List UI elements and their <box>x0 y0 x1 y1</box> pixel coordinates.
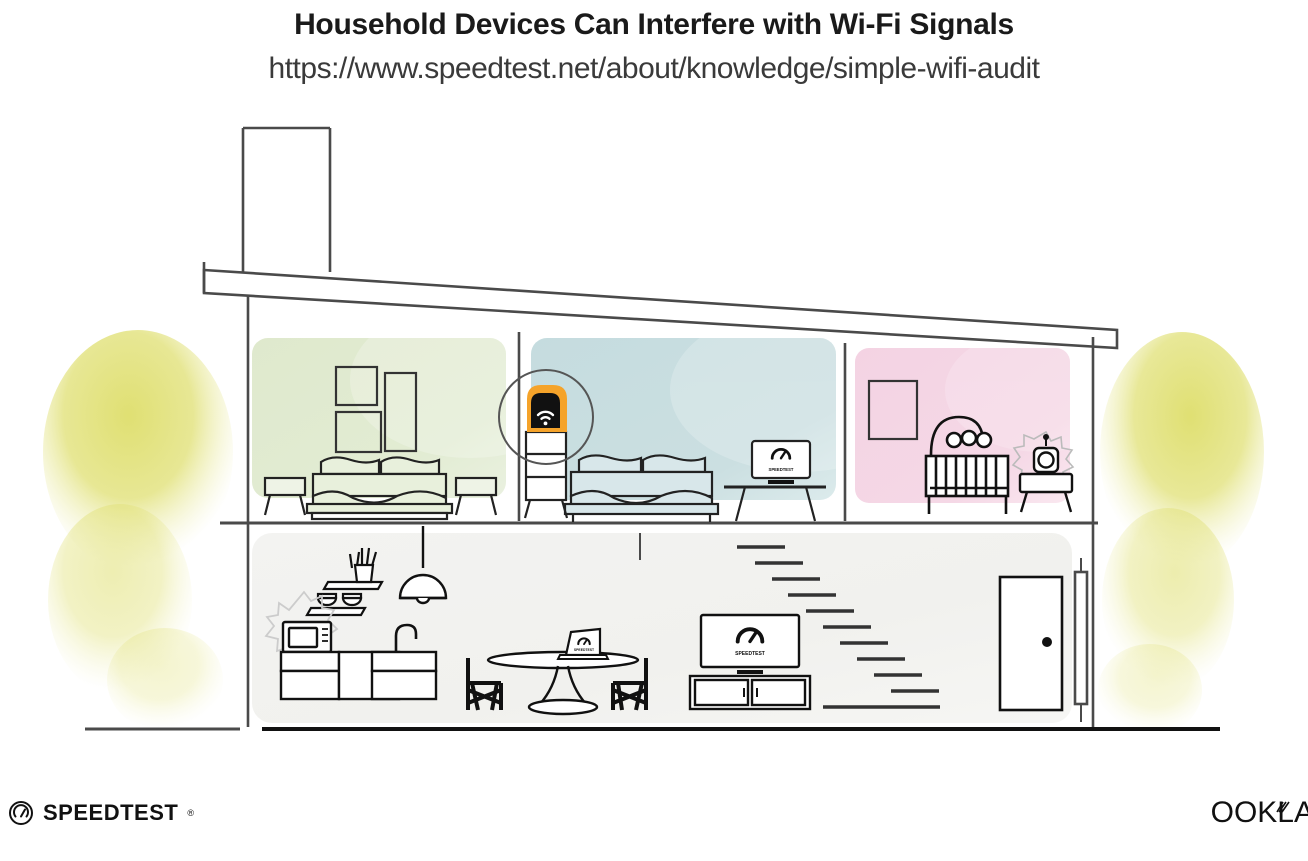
kitchen-cabinets <box>281 652 436 699</box>
entry-door <box>1000 577 1062 710</box>
speedtest-gauge-icon <box>8 800 34 826</box>
infographic-page: Household Devices Can Interfere with Wi-… <box>0 0 1308 861</box>
media-console <box>690 676 810 709</box>
crib <box>926 456 1008 514</box>
television: SPEEDTEST <box>701 615 799 674</box>
ookla-mark-icon <box>1274 798 1290 828</box>
ookla-logo: OOKLA <box>1211 796 1308 830</box>
door-knob <box>1042 637 1052 647</box>
chimney <box>243 128 330 272</box>
bed-guest <box>307 457 452 519</box>
desktop-monitor: SPEEDTEST <box>752 441 810 484</box>
speedtest-trademark: ® <box>187 808 194 818</box>
microwave <box>283 622 331 652</box>
roof-slab <box>204 270 1117 348</box>
monitor-screen-label: SPEEDTEST <box>769 467 794 472</box>
tv-screen-label: SPEEDTEST <box>735 651 765 657</box>
speedtest-logo: SPEEDTEST ® <box>8 800 194 826</box>
tree-right <box>1098 332 1264 736</box>
ookla-wordmark: OOKLA <box>1211 796 1308 830</box>
tree-left <box>43 330 233 732</box>
bed-master <box>565 455 718 522</box>
shelf-unit <box>525 432 567 518</box>
laptop-screen-label: SPEEDTEST <box>574 648 595 652</box>
speedtest-wordmark: SPEEDTEST <box>43 800 178 826</box>
house-illustration: SPEEDTEST <box>0 0 1308 861</box>
wifi-router <box>527 385 567 432</box>
side-window <box>1075 572 1087 704</box>
